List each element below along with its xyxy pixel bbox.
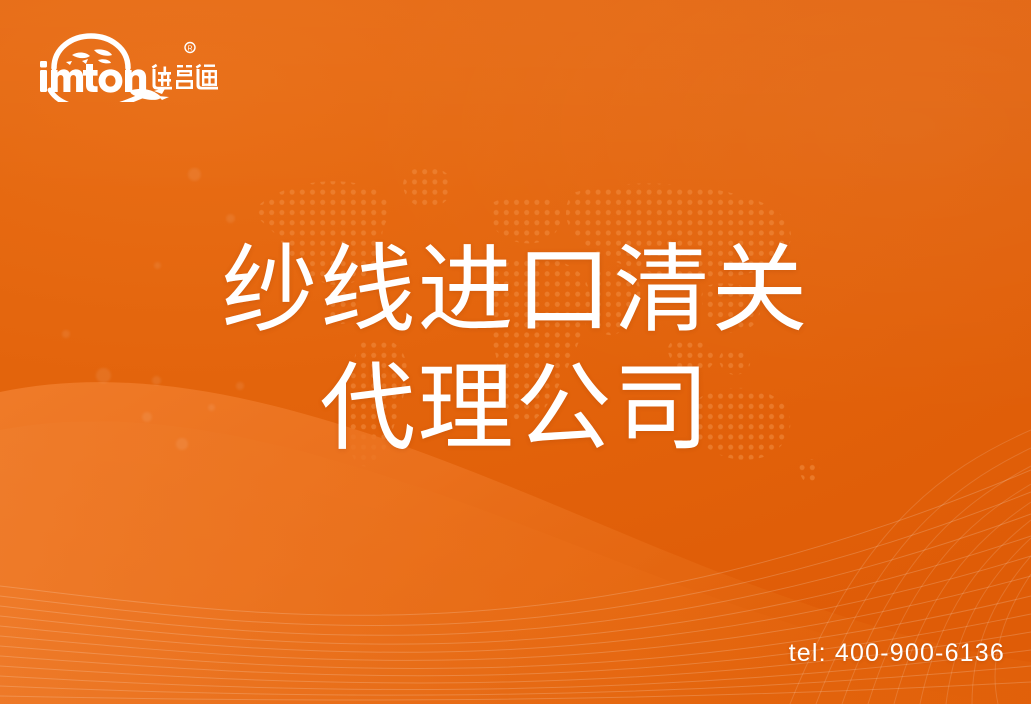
bokeh-dot xyxy=(226,214,235,223)
logo-chinese-name xyxy=(152,64,218,90)
contact-telephone[interactable]: tel: 400-900-6136 xyxy=(789,639,1005,668)
brand-logo[interactable]: R xyxy=(36,28,218,102)
svg-text:R: R xyxy=(187,46,192,53)
headline-line-2: 代理公司 xyxy=(0,350,1031,468)
globe-arc-icon xyxy=(54,36,128,68)
headline-line-1: 纱线进口清关 xyxy=(0,232,1031,350)
headline: 纱线进口清关 代理公司 xyxy=(0,232,1031,468)
bokeh-dot xyxy=(188,168,201,181)
poster-canvas: R 纱线进口清关 代理公司 tel: 400-900-6136 xyxy=(0,0,1031,704)
registered-trademark-icon: R xyxy=(185,43,195,53)
